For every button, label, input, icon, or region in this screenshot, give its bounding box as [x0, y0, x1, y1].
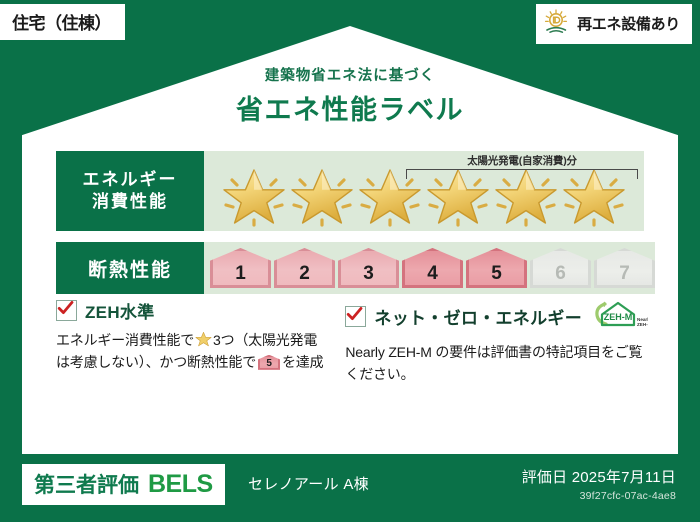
footer-meta: 評価日 2025年7月11日 39f27cfc-07ac-4ae8: [522, 466, 676, 502]
renewable-energy-badge: 再エネ設備あり: [536, 4, 692, 44]
insulation-grade-number: 1: [235, 263, 246, 285]
evaluation-uid: 39f27cfc-07ac-4ae8: [522, 490, 676, 502]
bels-badge-jp: 第三者評価: [34, 469, 139, 499]
insulation-grade-badge: 4: [402, 248, 463, 288]
bels-badge: 第三者評価 BELS: [22, 464, 225, 505]
svg-text:ZEH-M: ZEH-M: [604, 312, 633, 322]
insulation-grade-badge: 7: [594, 248, 655, 288]
insulation-row-label-text: 断熱性能: [88, 255, 172, 282]
insulation-row-body: 1 2 3 4 5: [204, 242, 655, 294]
insulation-grade-number: 3: [363, 263, 374, 285]
insulation-grade-badge: 5: [466, 248, 527, 288]
evaluation-date: 評価日 2025年7月11日: [522, 466, 676, 487]
energy-row-label: エネルギー 消費性能: [56, 151, 204, 231]
insulation-grade-number: 4: [427, 263, 438, 285]
page-title: 建築物省エネ法に基づく 省エネ性能ラベル: [22, 64, 678, 127]
renewable-badge-label: 再エネ設備あり: [577, 13, 680, 34]
checkbox-checked-icon: [56, 300, 77, 321]
insulation-grade-number: 2: [299, 263, 310, 285]
zeh-standard-header: ZEH水準: [56, 298, 323, 323]
insulation-grade-number: 6: [555, 263, 566, 285]
insulation-row-label: 断熱性能: [56, 242, 204, 294]
star-icon: [289, 166, 355, 230]
checkbox-checked-icon: [345, 306, 366, 327]
zeh-standard-body-part3: を達成: [282, 354, 323, 370]
footer: 第三者評価 BELS セレノアール A棟 評価日 2025年7月11日 39f2…: [0, 454, 700, 522]
inline-grade-number: 5: [258, 355, 280, 370]
energy-row-label-line2: 消費性能: [92, 191, 168, 213]
net-zero-energy-column: ネット・ゼロ・エネルギー ZEH-M Nearly ZEH-M Nearly Z…: [345, 298, 648, 385]
star-icon: [425, 166, 491, 230]
star-icon: [357, 166, 423, 230]
star-icon: [493, 166, 559, 230]
insulation-grade-number: 7: [619, 263, 630, 285]
building-name: セレノアール A棟: [248, 473, 369, 494]
star-icon: [561, 166, 627, 230]
zeh-m-logo-icon: ZEH-M Nearly ZEH-M: [592, 298, 648, 335]
insulation-grade-badge: 1: [210, 248, 271, 288]
net-zero-energy-title: ネット・ゼロ・エネルギー: [374, 304, 582, 329]
energy-star-rating: [204, 151, 644, 231]
title-main: 省エネ性能ラベル: [22, 88, 678, 127]
category-tag: 住宅（住棟）: [0, 4, 125, 40]
solar-sun-icon: [544, 9, 570, 38]
net-zero-energy-body: Nearly ZEH-M の要件は評価書の特記項目をご覧ください。: [345, 342, 648, 385]
insulation-grade-scale: 1 2 3 4 5: [204, 242, 655, 294]
zeh-standard-body: エネルギー消費性能で3つ（太陽光発電は考慮しない）、かつ断熱性能で5を達成: [56, 330, 323, 373]
star-icon: [221, 166, 287, 230]
zeh-section: ZEH水準 エネルギー消費性能で3つ（太陽光発電は考慮しない）、かつ断熱性能で5…: [56, 298, 648, 385]
bels-badge-en: BELS: [148, 470, 213, 499]
insulation-grade-badge: 2: [274, 248, 335, 288]
zeh-standard-body-part1: エネルギー消費性能で: [56, 332, 194, 348]
energy-row-label-line1: エネルギー: [83, 169, 178, 191]
insulation-grade-badge: 3: [338, 248, 399, 288]
category-tag-label: 住宅（住棟）: [12, 14, 111, 33]
insulation-performance-row: 断熱性能 1 2 3: [56, 242, 644, 294]
svg-text:ZEH-M: ZEH-M: [637, 322, 648, 327]
net-zero-energy-header: ネット・ゼロ・エネルギー ZEH-M Nearly ZEH-M: [345, 298, 648, 335]
zeh-standard-title: ZEH水準: [85, 298, 155, 323]
house-shape-icon: 5: [258, 355, 280, 370]
insulation-grade-number: 5: [491, 263, 502, 285]
star-icon: [195, 331, 212, 348]
zeh-standard-column: ZEH水準 エネルギー消費性能で3つ（太陽光発電は考慮しない）、かつ断熱性能で5…: [56, 298, 323, 385]
energy-performance-row: エネルギー 消費性能 太陽光発電(自家消費)分: [56, 151, 644, 231]
metrics-section: エネルギー 消費性能 太陽光発電(自家消費)分: [56, 151, 644, 305]
label-panel: 建築物省エネ法に基づく 省エネ性能ラベル エネルギー 消費性能 太陽光発電(自家…: [22, 26, 678, 454]
energy-row-body: 太陽光発電(自家消費)分: [204, 151, 644, 231]
title-subtitle: 建築物省エネ法に基づく: [22, 64, 678, 85]
insulation-grade-badge: 6: [530, 248, 591, 288]
